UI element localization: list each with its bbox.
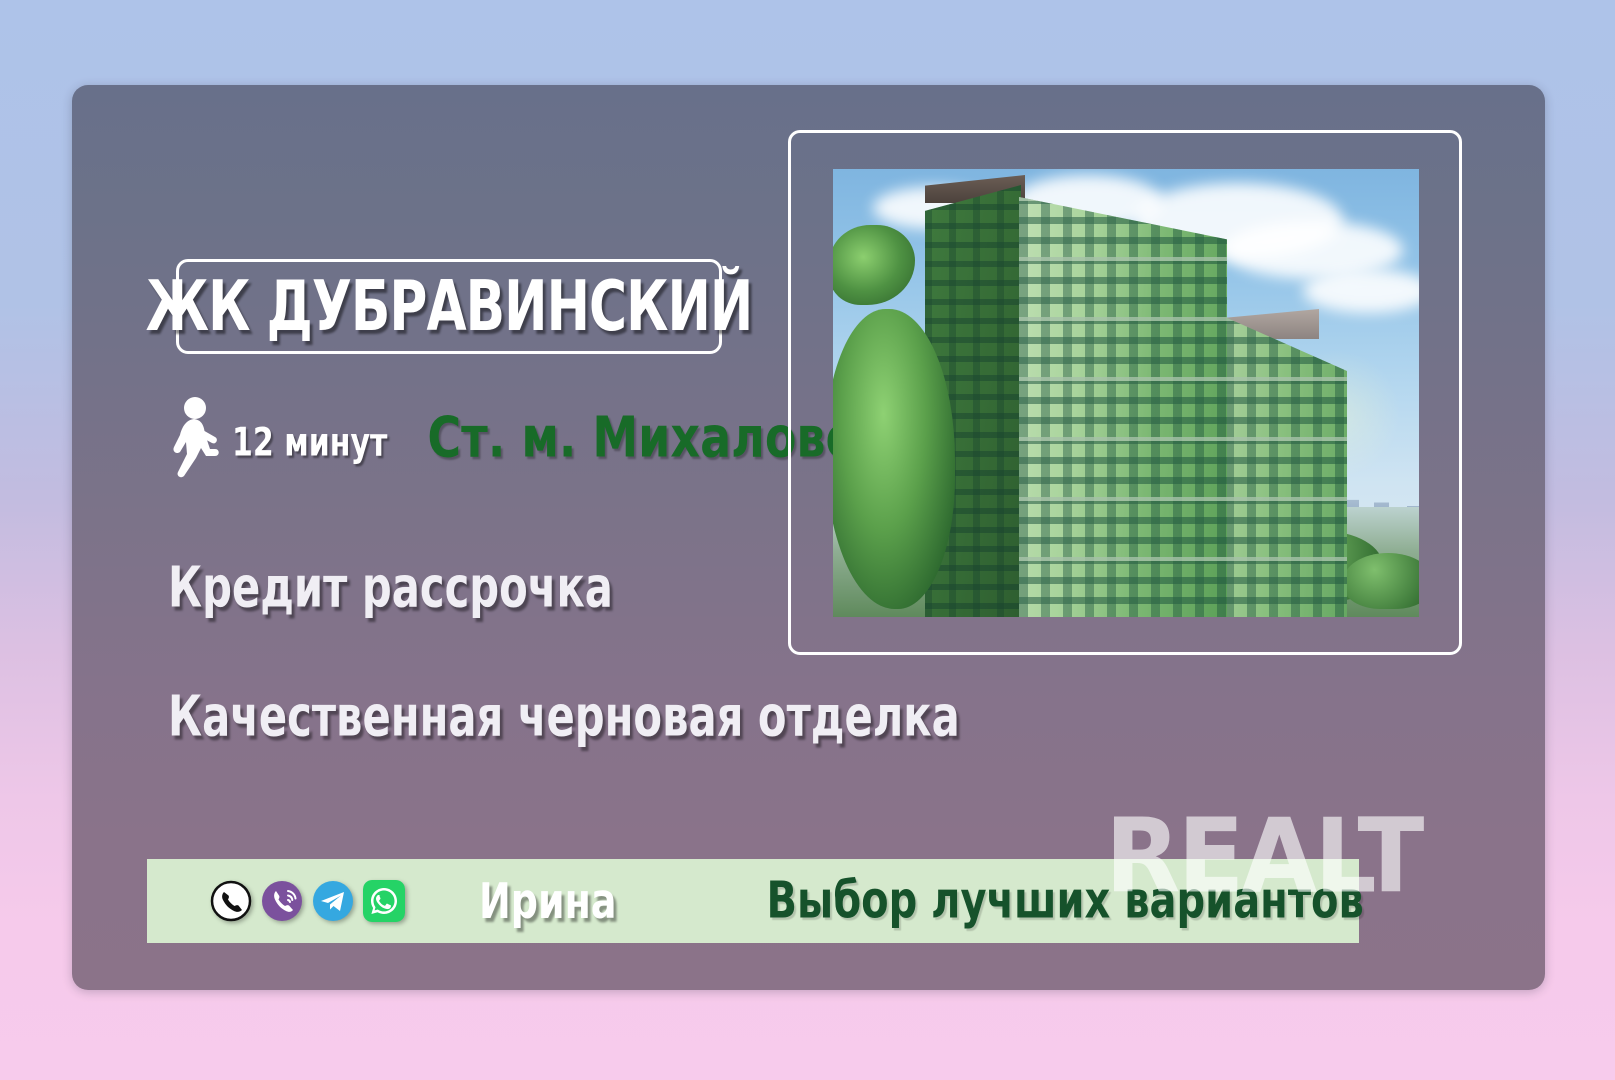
viber-icon[interactable] xyxy=(261,880,303,922)
near-tower-facade xyxy=(1019,197,1227,617)
page-title: ЖК ДУБРАВИНСКИЙ xyxy=(146,272,753,341)
near-tower-floor-bands xyxy=(1019,197,1227,617)
building-render-photo xyxy=(833,169,1419,617)
feature-rough-finishing: Качественная черновая отделка xyxy=(168,685,960,750)
messenger-icon-group xyxy=(210,880,405,922)
advert-card: ЖК ДУБРАВИНСКИЙ 12 минут Ст. м. Михалово… xyxy=(72,85,1545,990)
metro-distance-row: 12 минут Ст. м. Михалово xyxy=(168,390,857,480)
walking-person-icon xyxy=(168,396,224,480)
contact-bar: Ирина Выбор лучших вариантов xyxy=(147,859,1359,943)
page-background: ЖК ДУБРАВИНСКИЙ 12 минут Ст. м. Михалово… xyxy=(0,0,1615,1080)
walk-time-label: 12 минут xyxy=(232,421,387,467)
telegram-icon[interactable] xyxy=(312,880,354,922)
agent-name: Ирина xyxy=(479,872,617,929)
feature-credit-installment: Кредит рассрочка xyxy=(168,556,613,621)
tagline-text: Выбор лучших вариантов xyxy=(767,872,1364,930)
phone-icon[interactable] xyxy=(210,880,252,922)
bush-shape xyxy=(1343,553,1419,609)
complex-title-plaque: ЖК ДУБРАВИНСКИЙ xyxy=(176,259,722,354)
whatsapp-icon[interactable] xyxy=(363,880,405,922)
